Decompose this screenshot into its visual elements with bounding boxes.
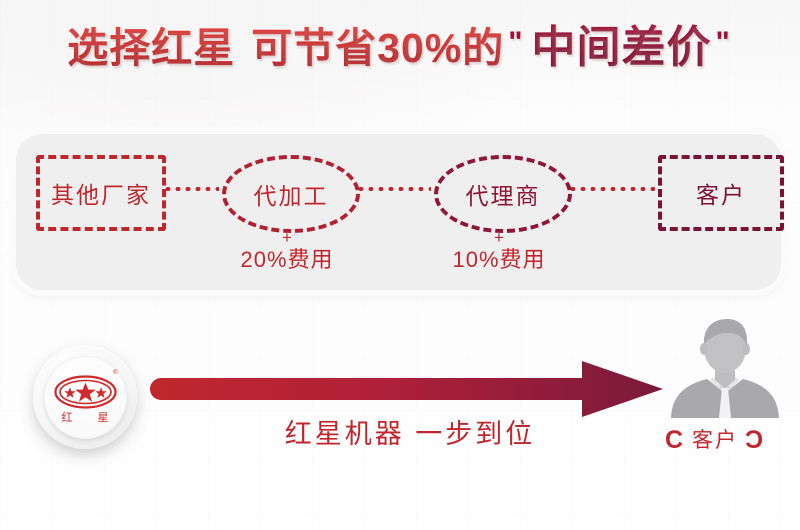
registered-trademark-icon: ® [113,370,117,376]
flow-node-other-manufacturer-label: 其他厂家 [51,176,151,210]
direct-supply-arrow [150,358,675,420]
flow-node-oem-processing: 代加工 [222,155,360,233]
fee-label-agent: + 10%费用 [414,229,584,273]
bracket-right-icon: Ɔ [745,426,765,454]
flow-node-agent: 代理商 [434,155,572,233]
bracket-left-icon: C [665,426,685,454]
title-emphasis-middle-markup: 中间差价 [532,23,712,72]
slogan-text: 红星机器 一步到位 [180,412,640,451]
customer-caption-label: 客户 [692,429,738,452]
page-title: 选择红星可节省30%的"中间差价" [0,26,800,70]
logo-char-xing: 星 [98,409,109,425]
quote-open-mark: " [508,26,521,59]
connector-agent-to-customer [568,187,655,191]
quote-close-mark: " [716,26,729,59]
title-segment-choose-hongxing: 选择红星 [67,25,235,71]
flow-node-oem-processing-label: 代加工 [254,177,329,211]
arrow-right-icon [150,358,675,420]
businessman-silhouette-icon [669,318,781,418]
logo-inner-disc: ® 红 星 [44,356,127,439]
fee-amount-processing: 20%费用 [202,247,372,273]
fee-amount-agent: 10%费用 [414,247,584,273]
fee-plus-sign-processing: + [202,229,372,247]
connector-process-to-agent [356,187,431,191]
fee-plus-sign-agent: + [414,229,584,247]
title-segment-savings: 可节省30%的 [251,25,504,71]
poster-canvas: 选择红星可节省30%的"中间差价" 其他厂家 代加工 代理商 客户 + 20%费… [0,0,800,530]
logo-char-hong: 红 [62,409,73,425]
customer-caption: C客户Ɔ [640,424,790,454]
fee-label-processing: + 20%费用 [202,229,372,273]
flow-node-customer: 客户 [658,155,784,231]
hongxing-star-oval-icon [44,356,127,439]
hongxing-logo-badge: ® 红 星 [33,345,137,449]
flow-node-agent-label: 代理商 [466,177,541,211]
customer-avatar-icon [669,318,781,418]
connector-oem-to-process [163,187,219,191]
flow-node-customer-label: 客户 [696,176,746,210]
flow-node-other-manufacturer: 其他厂家 [36,155,166,231]
